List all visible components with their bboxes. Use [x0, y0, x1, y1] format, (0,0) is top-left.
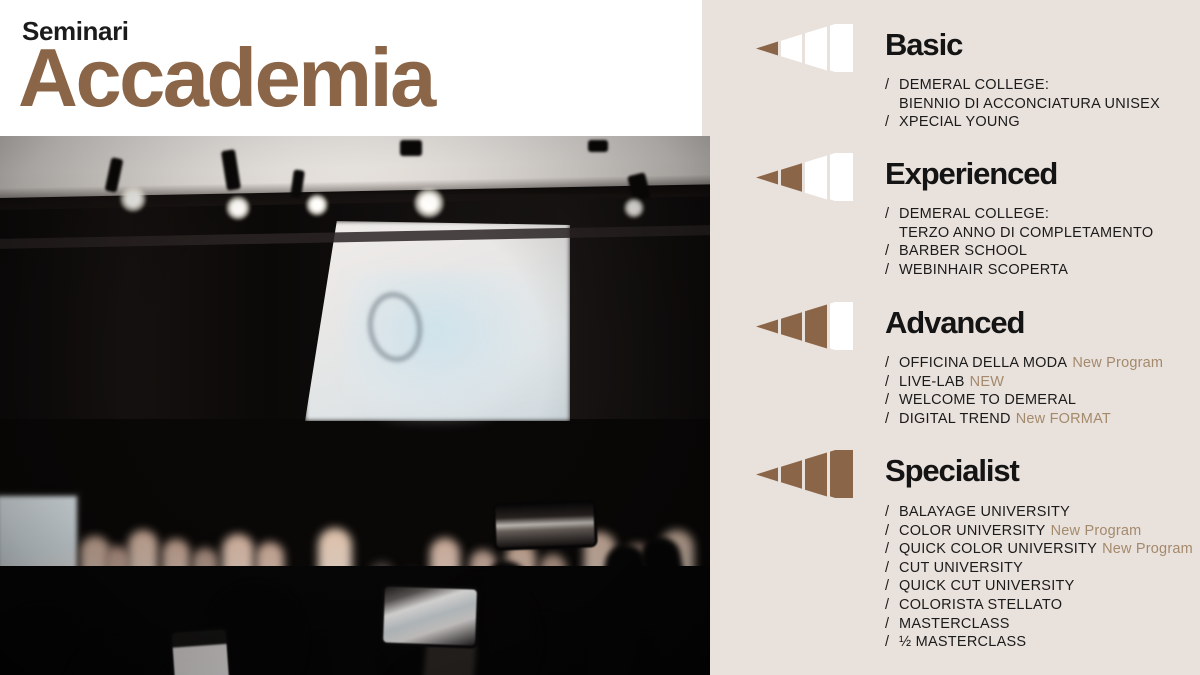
level-title: Advanced	[885, 307, 1024, 338]
course-label: DIGITAL TREND	[899, 411, 1011, 427]
course-label: BARBER SCHOOL	[899, 243, 1027, 259]
course-bullet-slash: /	[885, 615, 899, 634]
course-item[interactable]: /COLORISTA STELLATO	[885, 596, 1193, 615]
course-label: QUICK CUT UNIVERSITY	[899, 578, 1075, 594]
course-item[interactable]: /QUICK COLOR UNIVERSITYNew Program	[885, 540, 1193, 559]
course-bullet-slash: /	[885, 242, 899, 261]
course-bullet-slash: /	[885, 633, 899, 652]
course-item[interactable]: /COLOR UNIVERSITYNew Program	[885, 522, 1193, 541]
course-item[interactable]: /½ MASTERCLASS	[885, 633, 1193, 652]
course-label: COLORISTA STELLATO	[899, 597, 1062, 613]
photo-vignette	[0, 136, 710, 675]
course-item[interactable]: /DEMERAL COLLEGE:	[885, 205, 1153, 224]
course-bullet-slash: /	[885, 540, 899, 559]
pennant-rank-icon-experienced	[756, 153, 866, 201]
course-list-basic: /DEMERAL COLLEGE: BIENNIO DI ACCONCIATUR…	[885, 76, 1160, 132]
pennant-rank-icon-specialist	[756, 450, 866, 498]
course-item[interactable]: /LIVE-LABNEW	[885, 373, 1163, 392]
course-item[interactable]: /OFFICINA DELLA MODANew Program	[885, 354, 1163, 373]
title-card: Seminari Accademia	[0, 0, 702, 136]
course-item[interactable]: /WELCOME TO DEMERAL	[885, 391, 1163, 410]
page-title: Accademia	[18, 36, 434, 119]
level-title: Specialist	[885, 455, 1019, 486]
course-label: ½ MASTERCLASS	[899, 634, 1026, 650]
course-bullet-slash: /	[885, 503, 899, 522]
course-tag: NEW	[965, 374, 1004, 390]
course-list-specialist: /BALAYAGE UNIVERSITY /COLOR UNIVERSITYNe…	[885, 503, 1193, 652]
hero-photo	[0, 136, 710, 675]
course-label: BALAYAGE UNIVERSITY	[899, 504, 1070, 520]
course-label: MASTERCLASS	[899, 616, 1010, 632]
course-label: COLOR UNIVERSITY	[899, 523, 1046, 539]
course-item[interactable]: /DIGITAL TRENDNew FORMAT	[885, 410, 1163, 429]
course-bullet-slash: /	[885, 76, 899, 95]
course-list-advanced: /OFFICINA DELLA MODANew Program /LIVE-LA…	[885, 354, 1163, 428]
left-column: Seminari Accademia	[0, 0, 710, 675]
slide-root: Seminari Accademia	[0, 0, 1200, 675]
course-label-continuation: TERZO ANNO DI COMPLETAMENTO	[899, 225, 1153, 241]
course-label-continuation: BIENNIO DI ACCONCIATURA UNISEX	[899, 96, 1160, 112]
course-label: QUICK COLOR UNIVERSITY	[899, 541, 1097, 557]
course-tag: New Program	[1067, 355, 1163, 371]
course-bullet-slash: /	[885, 261, 899, 280]
level-title: Experienced	[885, 158, 1057, 189]
course-item[interactable]: /DEMERAL COLLEGE:	[885, 76, 1160, 95]
course-label: XPECIAL YOUNG	[899, 114, 1020, 130]
course-label: CUT UNIVERSITY	[899, 560, 1023, 576]
course-bullet-slash: /	[885, 559, 899, 578]
course-bullet-slash: /	[885, 373, 899, 392]
pennant-rank-icon-advanced	[756, 302, 866, 350]
course-item-continuation: TERZO ANNO DI COMPLETAMENTO	[885, 224, 1153, 243]
course-item[interactable]: /BARBER SCHOOL	[885, 242, 1153, 261]
pennant-rank-icon-basic	[756, 24, 866, 72]
course-label: DEMERAL COLLEGE:	[899, 77, 1049, 93]
course-tag: New FORMAT	[1011, 411, 1111, 427]
course-item[interactable]: /CUT UNIVERSITY	[885, 559, 1193, 578]
levels-panel: Basic /DEMERAL COLLEGE: BIENNIO DI ACCON…	[710, 0, 1200, 675]
course-bullet-slash: /	[885, 205, 899, 224]
course-bullet-slash: /	[885, 391, 899, 410]
course-item-continuation: BIENNIO DI ACCONCIATURA UNISEX	[885, 95, 1160, 114]
course-bullet-slash: /	[885, 522, 899, 541]
course-tag: New Program	[1097, 541, 1193, 557]
course-item[interactable]: /QUICK CUT UNIVERSITY	[885, 577, 1193, 596]
course-label: DEMERAL COLLEGE:	[899, 206, 1049, 222]
course-bullet-slash: /	[885, 354, 899, 373]
course-bullet-slash: /	[885, 113, 899, 132]
course-item[interactable]: /MASTERCLASS	[885, 615, 1193, 634]
course-tag: New Program	[1046, 523, 1142, 539]
course-item[interactable]: /BALAYAGE UNIVERSITY	[885, 503, 1193, 522]
course-item[interactable]: /WEBINHAIR SCOPERTA	[885, 261, 1153, 280]
course-item[interactable]: /XPECIAL YOUNG	[885, 113, 1160, 132]
level-title: Basic	[885, 29, 962, 60]
course-label: OFFICINA DELLA MODA	[899, 355, 1067, 371]
course-label: WELCOME TO DEMERAL	[899, 392, 1076, 408]
course-list-experienced: /DEMERAL COLLEGE: TERZO ANNO DI COMPLETA…	[885, 205, 1153, 279]
course-bullet-slash: /	[885, 410, 899, 429]
course-label: LIVE-LAB	[899, 374, 965, 390]
course-bullet-slash: /	[885, 577, 899, 596]
course-bullet-slash: /	[885, 596, 899, 615]
course-label: WEBINHAIR SCOPERTA	[899, 262, 1068, 278]
